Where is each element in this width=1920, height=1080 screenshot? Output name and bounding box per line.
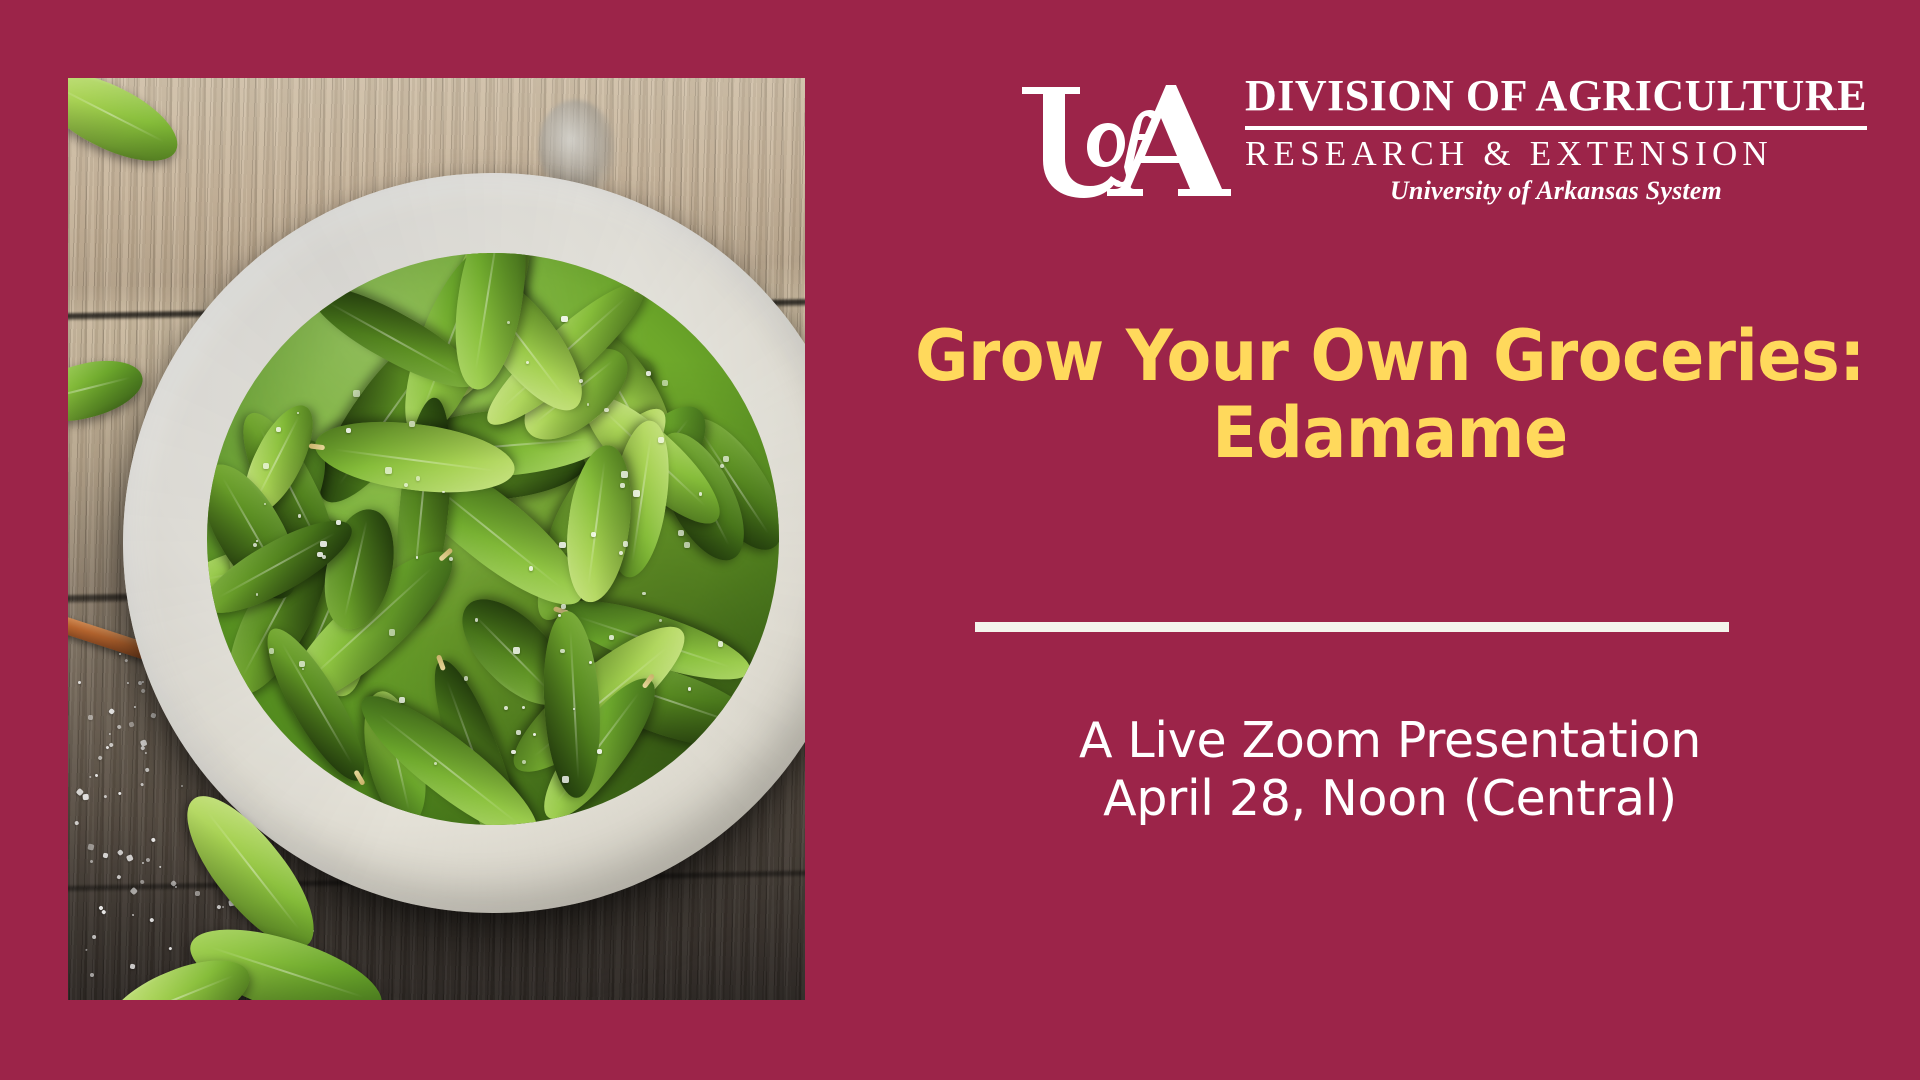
horizontal-divider	[975, 622, 1729, 632]
event-details: A Live Zoom Presentation April 28, Noon …	[860, 712, 1920, 828]
salt-crystal	[302, 668, 304, 670]
flyer-title-line-2: Edamame	[897, 395, 1883, 472]
salt-crystal	[442, 491, 444, 493]
salt-crystal	[619, 551, 623, 555]
salt-crystal	[646, 371, 651, 376]
salt-crystal	[633, 490, 640, 497]
salt-crystal	[269, 648, 275, 654]
salt-crystal	[409, 421, 415, 427]
pod-seam	[334, 448, 494, 471]
salt-crystal	[558, 614, 561, 617]
salt-crystal	[623, 541, 628, 546]
pod-seam	[475, 253, 500, 370]
salt-crystal	[464, 676, 468, 680]
salt-crystal	[560, 649, 564, 653]
logo-research-extension-line: RESEARCH & EXTENSION	[1245, 136, 1867, 172]
salt-crystal	[263, 463, 269, 469]
flyer-content: DIVISION OF AGRICULTURE RESEARCH & EXTEN…	[860, 0, 1920, 1080]
uofa-monogram-icon	[1016, 75, 1231, 203]
salt-crystal	[320, 541, 326, 547]
salt-crystal	[658, 437, 663, 442]
salt-crystal	[573, 708, 575, 710]
pod-seam	[68, 376, 130, 401]
logo-university-system-line: University of Arkansas System	[1245, 177, 1867, 206]
flyer-title: Grow Your Own Groceries: Edamame	[897, 318, 1883, 472]
salt-crystal	[385, 467, 392, 474]
salt-crystal	[561, 316, 568, 323]
salt-crystal	[353, 390, 360, 397]
salt-crystal	[276, 427, 281, 432]
salt-crystal	[688, 687, 692, 691]
salt-crystal	[597, 749, 602, 754]
pod-seam	[569, 629, 579, 779]
salt-crystal	[299, 661, 305, 667]
salt-crystal	[662, 380, 667, 385]
salt-crystal	[678, 530, 684, 536]
flyer-title-line-1: Grow Your Own Groceries:	[915, 315, 1865, 397]
salt-crystal	[604, 408, 609, 413]
salt-crystal	[587, 403, 589, 405]
salt-crystal	[718, 641, 724, 647]
edamame-bowl-photo	[68, 78, 805, 1000]
event-flyer: DIVISION OF AGRICULTURE RESEARCH & EXTEN…	[0, 0, 1920, 1080]
event-datetime-line: April 28, Noon (Central)	[860, 770, 1920, 828]
salt-crystal	[621, 471, 628, 478]
salt-crystal	[507, 321, 510, 324]
salt-crystal	[516, 730, 521, 735]
salt-crystal	[399, 697, 405, 703]
logo-wordmark: DIVISION OF AGRICULTURE RESEARCH & EXTEN…	[1245, 72, 1867, 205]
white-bowl	[123, 173, 805, 913]
salt-crystal	[336, 520, 340, 524]
salt-crystal	[620, 483, 625, 488]
salt-crystal	[720, 464, 724, 468]
salt-crystal	[723, 456, 729, 462]
salt-crystal	[513, 647, 519, 653]
salt-crystal	[699, 492, 702, 495]
bowl-interior	[207, 253, 779, 825]
salt-crystal	[522, 760, 525, 763]
salt-crystal	[529, 566, 533, 570]
salt-crystal	[404, 483, 408, 487]
pod-seam	[587, 460, 605, 586]
event-format-line: A Live Zoom Presentation	[860, 712, 1920, 770]
salt-crystal	[609, 635, 614, 640]
logo-divider-rule	[1245, 126, 1867, 130]
salt-crystal	[533, 733, 536, 736]
pod-seam	[632, 437, 652, 562]
salt-crystal	[684, 542, 690, 548]
salt-crystal	[562, 776, 569, 783]
salt-crystal	[389, 629, 396, 636]
salt-crystal	[559, 542, 566, 549]
salt-crystal	[298, 514, 301, 517]
logo-division-line: DIVISION OF AGRICULTURE	[1245, 74, 1867, 119]
salt-crystal	[504, 706, 507, 709]
uofa-division-of-agriculture-logo: DIVISION OF AGRICULTURE RESEARCH & EXTEN…	[1016, 74, 1716, 204]
